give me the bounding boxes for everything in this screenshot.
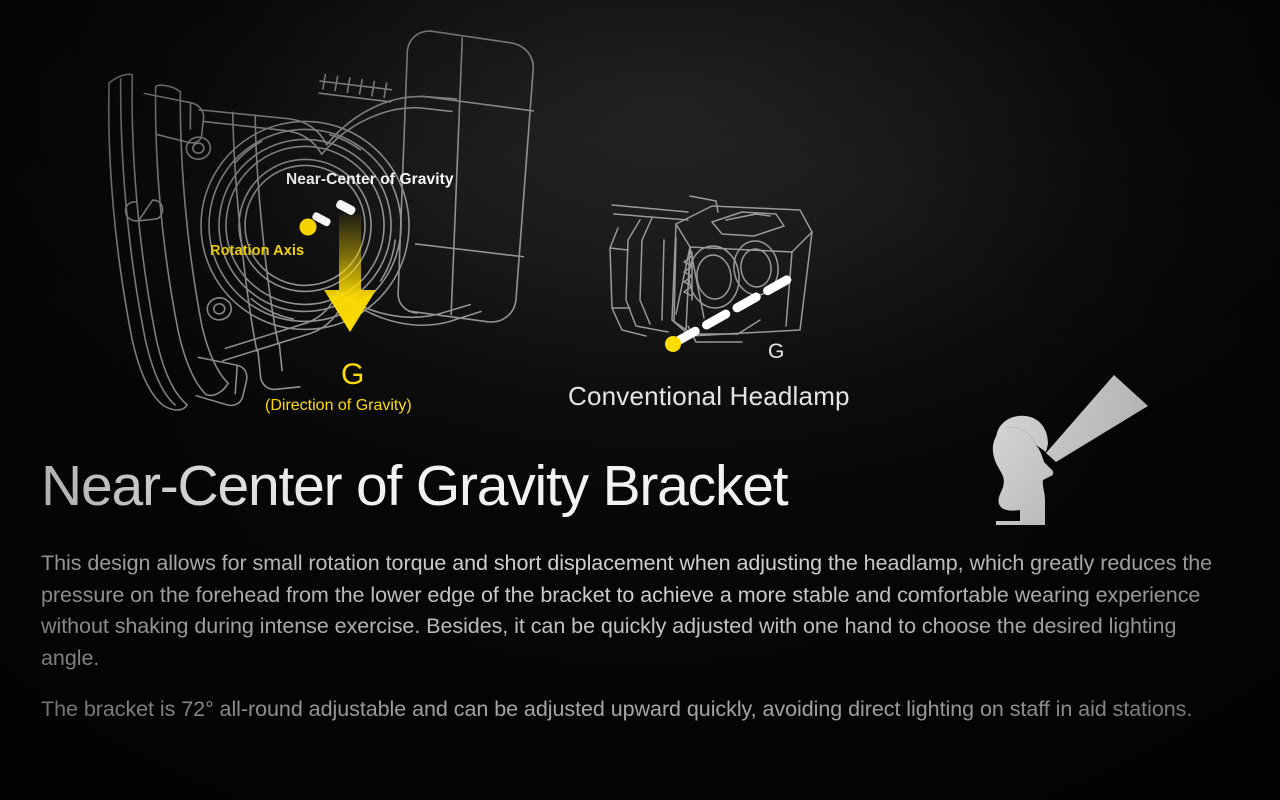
page-title: Near-Center of Gravity Bracket <box>41 458 787 515</box>
rotation-axis-label: Rotation Axis <box>210 243 304 259</box>
rotation-axis-pin-icon <box>300 211 332 235</box>
gravity-tick-mark <box>335 199 357 216</box>
body-copy: This design allows for small rotation to… <box>41 548 1237 726</box>
near-center-of-gravity-label: Near-Center of Gravity <box>286 171 454 189</box>
conventional-headlamp-line-drawing <box>610 196 812 342</box>
conventional-headlamp-caption: Conventional Headlamp <box>568 381 850 412</box>
paragraph-2: The bracket is 72° all-round adjustable … <box>41 694 1237 726</box>
paragraph-1: This design allows for small rotation to… <box>41 548 1237 674</box>
conventional-axis-dashed-line <box>676 277 792 342</box>
direction-of-gravity-label: (Direction of Gravity) <box>265 397 412 415</box>
gravity-symbol-right: G <box>768 340 784 364</box>
gravity-symbol-left: G <box>341 358 365 392</box>
conventional-pivot-dot <box>665 336 681 352</box>
slide-canvas: Near-Center of Gravity Rotation Axis G (… <box>0 0 1280 800</box>
head-with-light-beam-icon <box>993 375 1148 525</box>
bracket-line-drawing <box>98 21 565 416</box>
gravity-arrow-icon <box>324 214 376 332</box>
